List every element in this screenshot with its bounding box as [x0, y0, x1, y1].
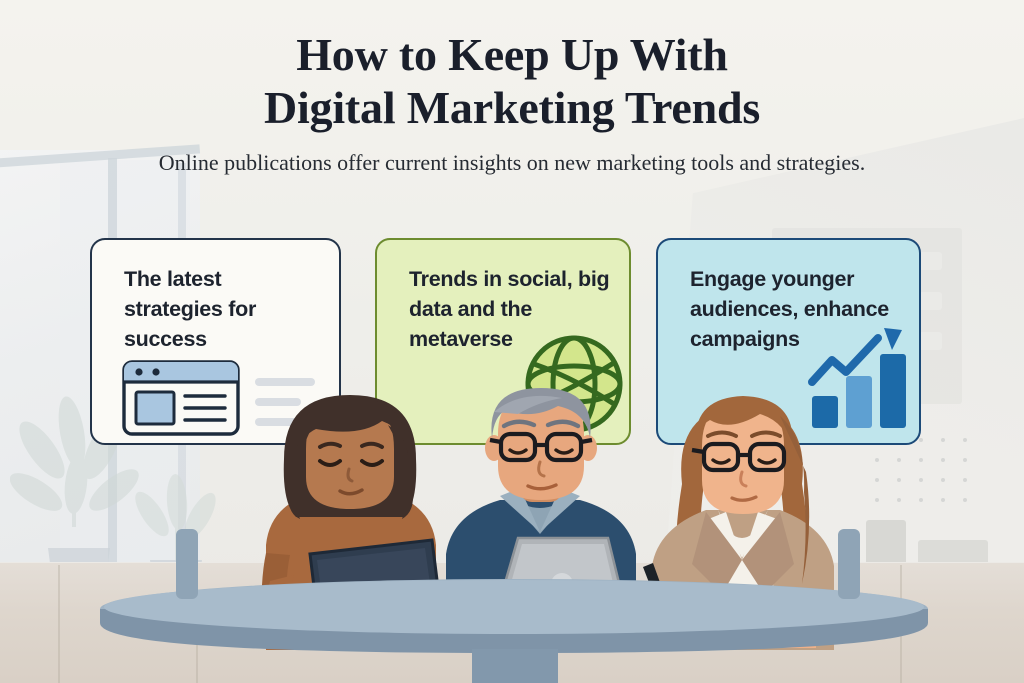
meeting-table: [96, 575, 932, 683]
table-and-devices: [0, 0, 1024, 683]
chair-back-right: [838, 529, 860, 599]
infographic-canvas: How to Keep Up With Digital Marketing Tr…: [0, 0, 1024, 683]
chair-back-left: [176, 529, 198, 599]
